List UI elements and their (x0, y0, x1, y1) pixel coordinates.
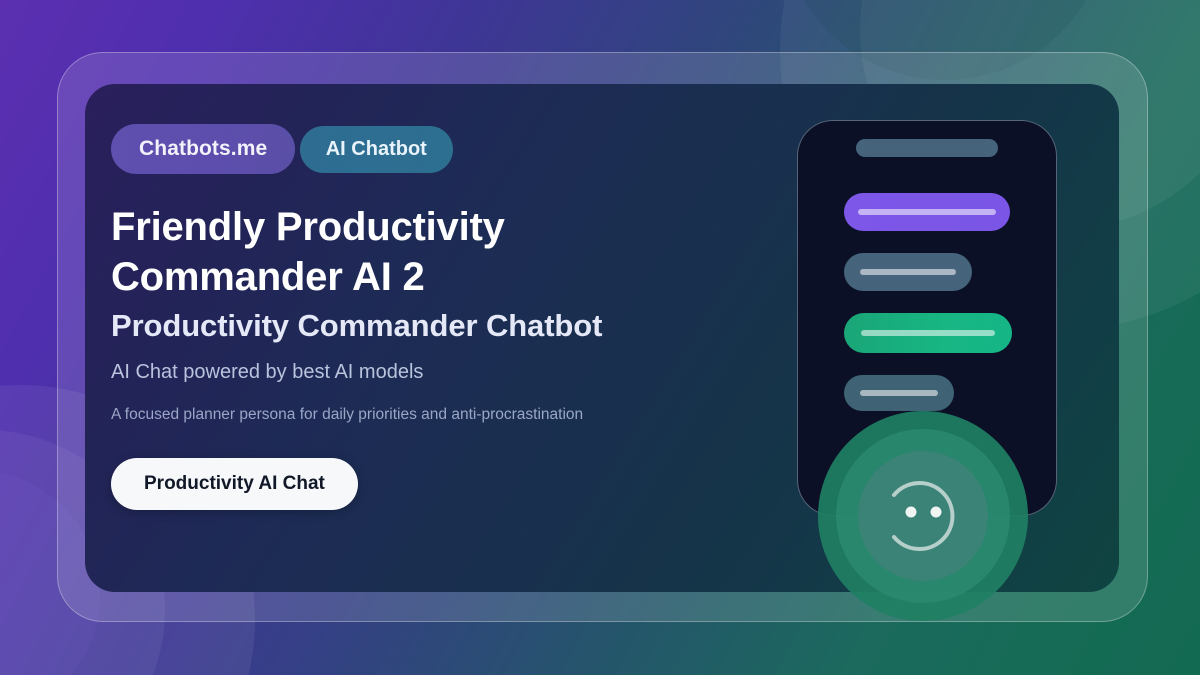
page-title: Friendly Productivity Commander AI 2 (111, 202, 631, 302)
mockup-text-line (860, 269, 956, 275)
cta-button[interactable]: Productivity AI Chat (111, 458, 358, 510)
hero-content: Chatbots.me AI Chatbot Friendly Producti… (111, 110, 791, 510)
avatar (818, 411, 1028, 621)
tagline-text: AI Chat powered by best AI models (111, 358, 791, 386)
page-root: Chatbots.me AI Chatbot Friendly Producti… (0, 0, 1200, 675)
mockup-text-line (861, 330, 995, 336)
mockup-message-muted-1 (844, 253, 972, 291)
mockup-message-muted-2 (844, 375, 954, 411)
smiley-chat-icon (866, 459, 980, 573)
category-badge: AI Chatbot (300, 126, 453, 173)
mockup-message-success (844, 313, 1012, 353)
mockup-message-accent (844, 193, 1010, 231)
page-subtitle: Productivity Commander Chatbot (111, 306, 791, 346)
mockup-text-line (858, 209, 996, 215)
description-text: A focused planner persona for daily prio… (111, 404, 791, 426)
mockup-header-bar (856, 139, 998, 157)
mockup-text-line (860, 390, 938, 396)
brand-badge[interactable]: Chatbots.me (111, 124, 295, 174)
